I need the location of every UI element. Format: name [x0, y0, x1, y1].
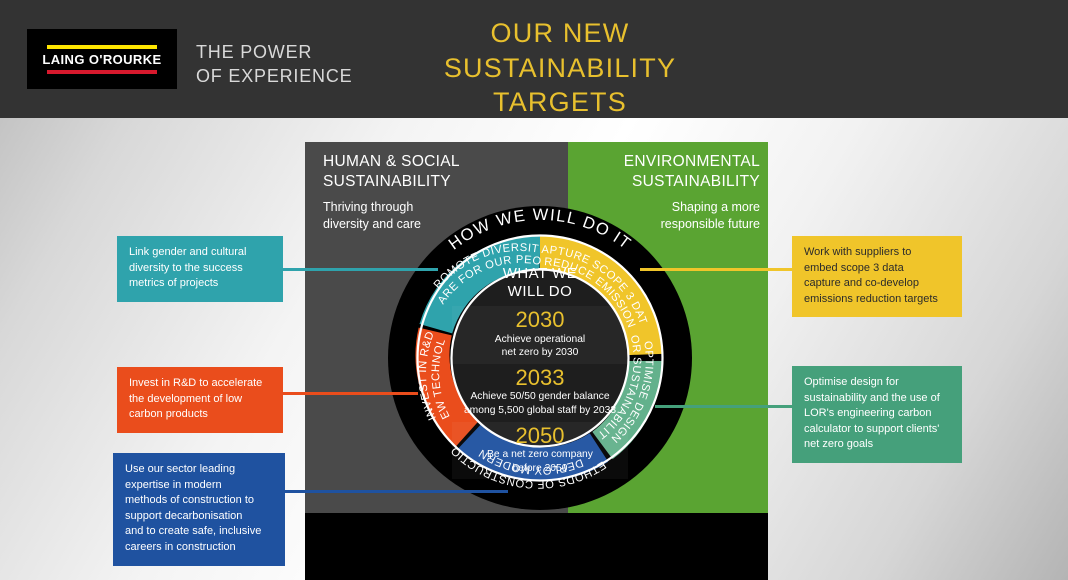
goal-2050-text-line-1: Be a net zero company [452, 448, 628, 462]
callout-line: sustainability and the use of [804, 391, 950, 407]
logo-wordmark: LAING O'ROURKE [42, 53, 161, 66]
wheel-center-content: WHAT WE WILL DO 2030 Achieve operational… [452, 265, 628, 451]
callout-line: diversity to the success [129, 261, 271, 277]
title-line-3: TARGETS [370, 85, 750, 120]
callout-line: metrics of projects [129, 276, 271, 292]
callout-line: careers in construction [125, 540, 273, 556]
callout-gender-cultural-diversity[interactable]: Link gender and cultural diversity to th… [117, 236, 283, 302]
laing-orourke-logo: LAING O'ROURKE [27, 29, 177, 89]
goal-2030-text-line-1: Achieve operational [452, 333, 628, 347]
callout-line: Use our sector leading [125, 462, 273, 478]
callout-line: Invest in R&D to accelerate [129, 376, 271, 392]
callout-line: calculator to support clients' [804, 422, 950, 438]
goal-2050-text-line-2: before 2050 [452, 462, 628, 476]
goal-2050-year: 2050 [452, 424, 628, 449]
connector-line-rd [278, 392, 418, 395]
callout-optimise-design-carbon-calculator[interactable]: Optimise design for sustainability and t… [792, 366, 962, 463]
callout-line: capture and co-develop [804, 276, 950, 292]
goal-2033: 2033 Achieve 50/50 gender balance among … [452, 364, 628, 422]
page-header: LAING O'ROURKE THE POWER OF EXPERIENCE O… [0, 0, 1068, 118]
enabled-by-panel [305, 513, 768, 580]
brand-tagline: THE POWER OF EXPERIENCE [196, 41, 352, 89]
callout-line: LOR's engineering carbon [804, 406, 950, 422]
goal-2030: 2030 Achieve operational net zero by 203… [452, 306, 628, 364]
callout-line: emissions reduction targets [804, 292, 950, 308]
callout-line: Optimise design for [804, 375, 950, 391]
logo-red-bar [47, 70, 157, 74]
human-social-title-line-1: HUMAN & SOCIAL [323, 152, 553, 172]
goal-2033-text-line-2: among 5,500 global staff by 2033 [452, 404, 628, 418]
connector-line-design [655, 405, 805, 408]
human-social-title-line-2: SUSTAINABILITY [323, 172, 553, 192]
connector-line-diversity [278, 268, 438, 271]
callout-line: methods of construction to [125, 493, 273, 509]
center-heading-line-1: WHAT WE [503, 265, 578, 283]
title-line-2: SUSTAINABILITY [370, 51, 750, 86]
callout-line: expertise in modern [125, 478, 273, 494]
goal-2050: 2050 Be a net zero company before 2050 [452, 422, 628, 480]
title-line-1: OUR NEW [370, 16, 750, 51]
callout-line: the development of low [129, 392, 271, 408]
goal-2030-year: 2030 [452, 308, 628, 333]
infographic-canvas: LAING O'ROURKE THE POWER OF EXPERIENCE O… [0, 0, 1068, 580]
callout-line: support decarbonisation [125, 509, 273, 525]
callout-line: carbon products [129, 407, 271, 423]
page-title: OUR NEW SUSTAINABILITY TARGETS [370, 16, 750, 120]
goal-2033-text-line-1: Achieve 50/50 gender balance [452, 390, 628, 404]
goal-2033-year: 2033 [452, 366, 628, 391]
connector-line-mmc [278, 490, 508, 493]
callout-line: Link gender and cultural [129, 245, 271, 261]
callout-line: embed scope 3 data [804, 261, 950, 277]
logo-yellow-bar [47, 45, 157, 49]
connector-line-scope3 [640, 268, 802, 271]
environmental-title-line-1: ENVIRONMENTAL [600, 152, 760, 172]
environmental-title-line-2: SUSTAINABILITY [600, 172, 760, 192]
tagline-line-1: THE POWER [196, 41, 352, 65]
callout-line: net zero goals [804, 437, 950, 453]
callout-sector-leading-mmc[interactable]: Use our sector leading expertise in mode… [113, 453, 285, 566]
callout-suppliers-scope3[interactable]: Work with suppliers to embed scope 3 dat… [792, 236, 962, 317]
center-heading-line-2: WILL DO [503, 283, 578, 301]
what-we-will-do-heading: WHAT WE WILL DO [503, 265, 578, 301]
goal-2030-text-line-2: net zero by 2030 [452, 346, 628, 360]
callout-line: Work with suppliers to [804, 245, 950, 261]
callout-invest-rd-low-carbon[interactable]: Invest in R&D to accelerate the developm… [117, 367, 283, 433]
callout-line: and to create safe, inclusive [125, 524, 273, 540]
tagline-line-2: OF EXPERIENCE [196, 65, 352, 89]
